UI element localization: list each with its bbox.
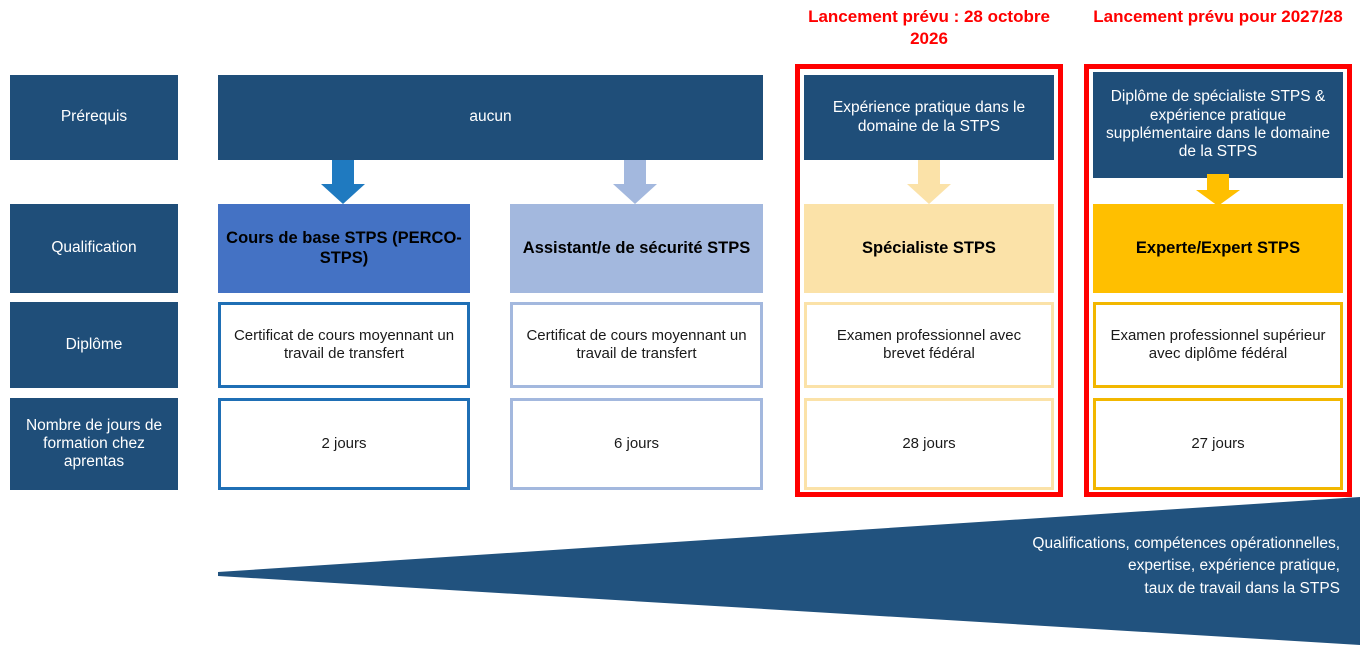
qualification-specialiste[interactable]: Spécialiste STPS bbox=[804, 204, 1054, 293]
diploma-specialiste: Examen professionnel avec brevet fédéral bbox=[804, 302, 1054, 388]
launch-note-specialiste: Lancement prévu : 28 octobre 2026 bbox=[795, 6, 1063, 50]
progression-banner: Qualifications, compétences opérationnel… bbox=[0, 497, 1360, 649]
row-label-jours: Nombre de jours de formation chez aprent… bbox=[10, 398, 178, 490]
diploma-cours-de-base: Certificat de cours moyennant un travail… bbox=[218, 302, 470, 388]
arrow-down-expert bbox=[1196, 174, 1240, 206]
row-label-qualification: Qualification bbox=[10, 204, 178, 293]
days-assistant-securite: 6 jours bbox=[510, 398, 763, 490]
row-label-prerequis: Prérequis bbox=[10, 75, 178, 160]
arrow-down-assistant bbox=[613, 160, 657, 204]
row-label-diplome: Diplôme bbox=[10, 302, 178, 388]
progression-banner-text: Qualifications, compétences opérationnel… bbox=[1032, 533, 1340, 600]
arrow-down-cours-de-base bbox=[321, 160, 365, 204]
diploma-assistant-securite: Certificat de cours moyennant un travail… bbox=[510, 302, 763, 388]
prerequisite-specialiste: Expérience pratique dans le domaine de l… bbox=[804, 75, 1054, 160]
qualification-experte-expert[interactable]: Experte/Expert STPS bbox=[1093, 204, 1343, 293]
days-specialiste: 28 jours bbox=[804, 398, 1054, 490]
days-experte-expert: 27 jours bbox=[1093, 398, 1343, 490]
prerequisite-shared: aucun bbox=[218, 75, 763, 160]
qualification-cours-de-base[interactable]: Cours de base STPS (PERCO-STPS) bbox=[218, 204, 470, 293]
qualification-assistant-securite[interactable]: Assistant/e de sécurité STPS bbox=[510, 204, 763, 293]
prerequisite-expert: Diplôme de spécialiste STPS & expérience… bbox=[1093, 72, 1343, 178]
arrow-down-specialiste bbox=[907, 160, 951, 204]
days-cours-de-base: 2 jours bbox=[218, 398, 470, 490]
launch-note-expert: Lancement prévu pour 2027/28 bbox=[1084, 6, 1352, 28]
diploma-experte-expert: Examen professionnel supérieur avec dipl… bbox=[1093, 302, 1343, 388]
diagram-canvas: Lancement prévu : 28 octobre 2026 Lancem… bbox=[0, 0, 1360, 649]
